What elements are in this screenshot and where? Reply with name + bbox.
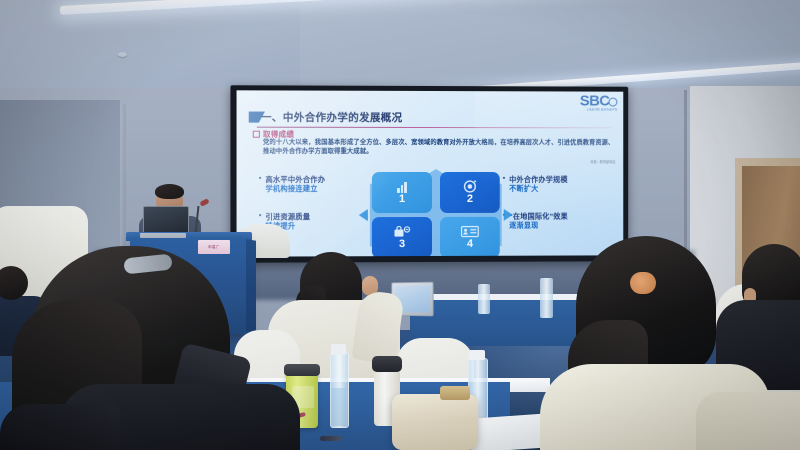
slide-paragraph: 党的十八大以来，我国基本形成了全方位、多层次、宽领域的教育对外开放大格局，在培养… — [263, 139, 617, 157]
water-bottle — [478, 284, 490, 314]
tile-1: 1 — [372, 172, 432, 213]
source-note: 来源：教育部网站 — [590, 159, 615, 164]
tile-number: 1 — [399, 194, 405, 205]
tile-4: 4 — [440, 217, 500, 257]
woman-cream-jacket-shoulder — [696, 392, 800, 450]
title-underline — [257, 127, 612, 129]
tile-2: 2 — [440, 172, 500, 213]
target-icon — [463, 180, 477, 193]
conference-room-photo: SBC 上海商学院 商务外语学院 一、中外合作办学的发展概况 取得成绩 党的十八… — [0, 0, 800, 450]
slide-content: SBC 上海商学院 商务外语学院 一、中外合作办学的发展概况 取得成绩 党的十八… — [237, 90, 624, 256]
presentation-screen: SBC 上海商学院 商务外语学院 一、中外合作办学的发展概况 取得成绩 党的十八… — [230, 85, 628, 263]
foreground-person-shoulder — [0, 404, 120, 450]
square-bullet-icon — [253, 131, 260, 138]
logo-ring-icon — [609, 98, 618, 107]
tile-number: 2 — [467, 194, 473, 205]
bullet-line1: 高水平中外合作办 — [265, 175, 325, 184]
bullet-line2: 不断扩大 — [509, 184, 538, 193]
bullet-marker-icon: ▪ — [259, 175, 262, 194]
screen-surface: SBC 上海商学院 商务外语学院 一、中外合作办学的发展概况 取得成绩 党的十八… — [237, 90, 624, 256]
bullet-marker-icon: ▪ — [503, 175, 505, 194]
bullet-line2: 逐渐显现 — [509, 221, 538, 230]
bullet-item: ▪ 中外合作办学规模 不断扩大 — [503, 175, 622, 194]
arrow-right-icon — [504, 209, 513, 221]
water-bottle — [540, 278, 553, 318]
bullet-line1: 中外合作办学规模 — [509, 175, 568, 184]
white-bottle-cap — [372, 356, 402, 372]
bar-chart-icon — [397, 180, 407, 193]
bullets-right: ▪ 中外合作办学规模 不断扩大 ▪ “在地国际化”效果 逐渐显现 — [503, 175, 622, 248]
bullet-item: ▪ 高水平中外合作办 学机构接连建立 — [259, 175, 372, 194]
smoke-detector-icon — [118, 52, 127, 57]
presenter-hair — [155, 184, 184, 199]
hair-clip — [630, 272, 656, 294]
pen — [320, 436, 342, 441]
bottle-cap — [331, 344, 346, 355]
bullet-line1: “在地国际化”效果 — [509, 211, 568, 220]
thermos-lid — [284, 364, 320, 376]
tile-3: 3 — [372, 217, 432, 257]
presentation-icon — [461, 225, 479, 238]
name-card: 申嘉广 — [198, 240, 230, 254]
podium-side — [246, 239, 256, 332]
bullet-item: ▪ “在地国际化”效果 逐渐显现 — [503, 211, 622, 230]
bottle-cap — [469, 350, 485, 360]
sbc-logo: SBC 上海商学院 商务外语学院 — [580, 94, 618, 113]
slide-title: 一、中外合作办学的发展概况 — [261, 110, 402, 125]
slide-title-row: 一、中外合作办学的发展概况 — [249, 111, 616, 128]
arrow-left-icon — [359, 209, 368, 221]
tile-number: 4 — [467, 239, 473, 250]
water-bottle-liquid — [331, 388, 346, 426]
handbag-buckle — [440, 386, 470, 400]
four-tile-diagram: 1 2 3 — [370, 169, 502, 257]
logo-text: SBC — [580, 93, 610, 110]
bullet-line2: 学机构接连建立 — [265, 184, 317, 193]
papers — [469, 413, 551, 450]
name-card-text: 申嘉广 — [208, 245, 220, 250]
briefcase-money-icon — [393, 225, 410, 238]
bullet-line1: 引进资源质量 — [265, 212, 310, 221]
tile-number: 3 — [399, 239, 405, 250]
